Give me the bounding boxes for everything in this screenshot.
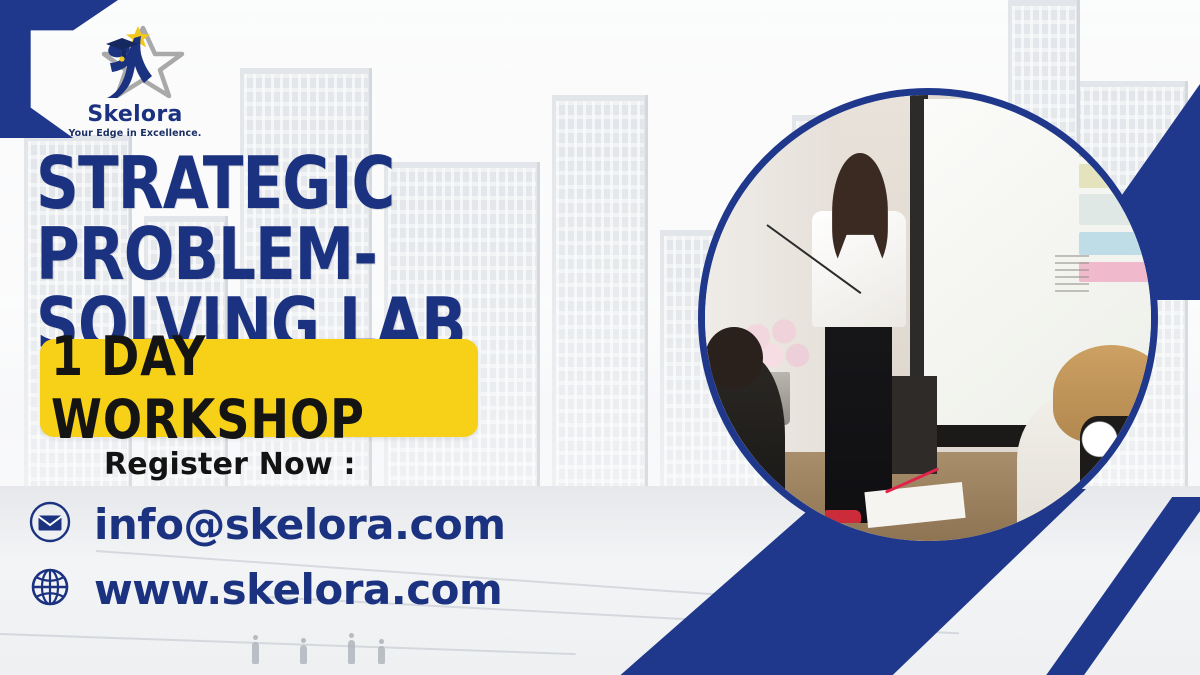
globe-icon (28, 565, 72, 614)
presenter-photo (698, 88, 1158, 548)
contact-website-row[interactable]: www.skelora.com (28, 565, 502, 614)
badge-label: 1 Day Workshop (51, 325, 467, 451)
promo-banner: Skelora Your Edge in Excellence. Strateg… (0, 0, 1200, 675)
workshop-duration-badge: 1 Day Workshop (40, 339, 478, 437)
register-now-label: Register Now : (104, 447, 356, 482)
email-address[interactable]: info@skelora.com (94, 500, 506, 549)
contact-email-row[interactable]: info@skelora.com (28, 500, 506, 549)
logo-tagline: Your Edge in Excellence. (60, 128, 210, 139)
website-url[interactable]: www.skelora.com (94, 565, 502, 614)
graduate-star-logo-icon (60, 14, 210, 106)
brand-logo: Skelora Your Edge in Excellence. (60, 14, 210, 139)
envelope-icon (28, 500, 72, 549)
headline-line-1: Strategic Problem- (36, 141, 394, 296)
